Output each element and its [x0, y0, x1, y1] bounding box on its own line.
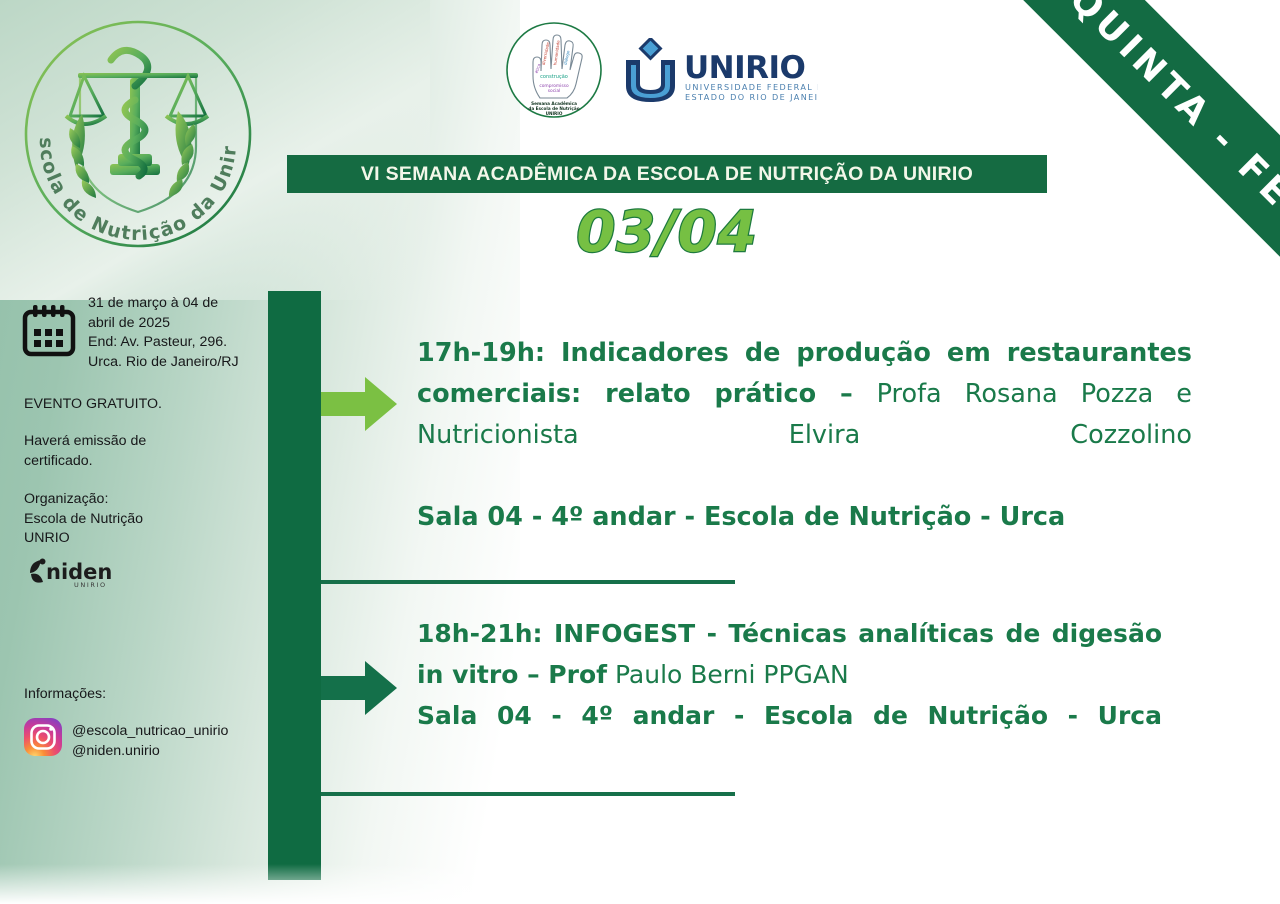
date-range-line-2: abril de 2025 [88, 314, 263, 334]
event-separator-2 [321, 792, 735, 796]
niden-subtitle: UNIRIO [74, 581, 107, 589]
organization-label: Organização: [24, 490, 239, 510]
hand-word-construcao: construção [540, 74, 568, 80]
event-2-speakers: Paulo Berni PPGAN [607, 660, 849, 689]
instagram-handles[interactable]: @escola_nutricao_unirio @niden.unirio [72, 722, 272, 761]
unirio-logo: UNIRIO UNIVERSIDADE FEDERAL DO ESTADO DO… [618, 38, 818, 108]
arrow-right-icon-event-1 [321, 374, 397, 434]
escola-nutricao-seal: Escola de Nutrição da Unirio [18, 16, 258, 256]
event-separator-1 [321, 580, 735, 584]
hand-logo-caption-3: UNIRIO [546, 111, 563, 116]
hand-word-social: social [548, 88, 561, 94]
unirio-subtitle-2: ESTADO DO RIO DE JANEIRO [685, 92, 818, 102]
address-line-2: Urca. Rio de Janeiro/RJ [88, 353, 263, 373]
free-event-note: EVENTO GRATUITO. [24, 395, 239, 415]
date-range-line-1: 31 de março à 04 de [88, 294, 263, 314]
event-1-time: 17h-19h: [417, 338, 545, 368]
event-1-description: 17h-19h: Indicadores de produção em rest… [417, 333, 1192, 497]
poster-canvas: Escola de Nutrição da Unirio ética diver… [0, 0, 1280, 904]
weekday-ribbon-label: QUINTA - FEIRA [1062, 0, 1280, 276]
instagram-handle-niden[interactable]: @niden.unirio [72, 742, 272, 762]
unirio-u-mark [626, 38, 675, 102]
unirio-subtitle-1: UNIVERSIDADE FEDERAL DO [685, 82, 818, 92]
event-dates-address: 31 de março à 04 de abril de 2025 End: A… [88, 294, 263, 372]
certificate-line-1: Haverá emissão de [24, 432, 239, 452]
background-bottom-fade [0, 864, 1280, 904]
organization-line-1: Escola de Nutrição [24, 510, 239, 530]
event-title-banner: VI SEMANA ACADÊMICA DA ESCOLA DE NUTRIÇÃ… [287, 155, 1047, 193]
organization-note: Organização: Escola de Nutrição UNRIO [24, 490, 239, 549]
unirio-wordmark: UNIRIO [684, 50, 805, 86]
calendar-icon [20, 302, 78, 360]
event-title-text: VI SEMANA ACADÊMICA DA ESCOLA DE NUTRIÇÃ… [361, 163, 973, 186]
event-date: 03/04 [287, 200, 1047, 265]
instagram-handle-escola[interactable]: @escola_nutricao_unirio [72, 722, 272, 742]
info-label: Informações: [24, 686, 106, 702]
event-item-1: 17h-19h: Indicadores de produção em rest… [417, 333, 1192, 538]
address-line-1: End: Av. Pasteur, 296. [88, 333, 263, 353]
niden-logo: niden UNIRIO [26, 555, 146, 589]
certificate-line-2: certificado. [24, 452, 239, 472]
event-1-location: Sala 04 - 4º andar - Escola de Nutrição … [417, 497, 1192, 538]
timeline-vertical-bar [268, 291, 321, 880]
event-item-2: 18h-21h: INFOGEST - Técnicas analíticas … [417, 613, 1162, 777]
arrow-right-icon-event-2 [321, 658, 397, 718]
organization-line-2: UNRIO [24, 529, 239, 549]
event-2-time: 18h-21h: [417, 619, 543, 648]
certificate-note: Haverá emissão de certificado. [24, 432, 239, 471]
logo-row: ética diversidade humanidade diálogo con… [500, 18, 830, 128]
semana-academica-hand-logo: ética diversidade humanidade diálogo con… [504, 20, 604, 120]
event-2-description: 18h-21h: INFOGEST - Técnicas analíticas … [417, 613, 1162, 695]
instagram-icon[interactable] [24, 718, 62, 756]
event-2-location: Sala 04 - 4º andar - Escola de Nutrição … [417, 695, 1162, 777]
